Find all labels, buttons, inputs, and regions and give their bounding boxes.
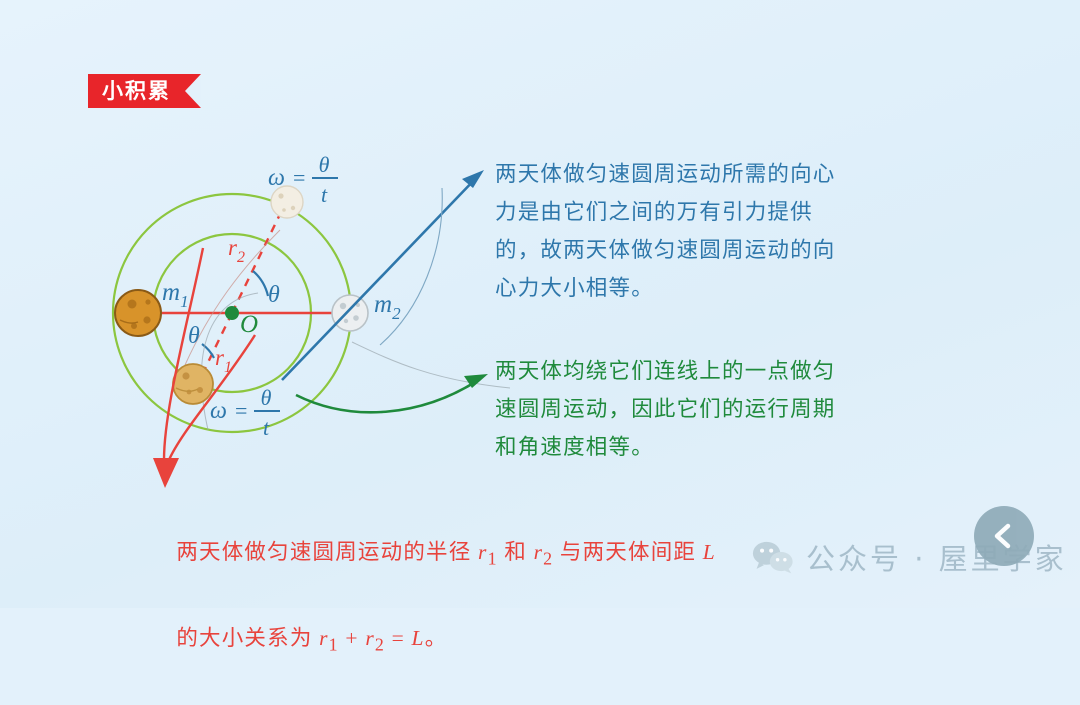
note3-period: 。 <box>425 626 448 650</box>
celestial-body-m1 <box>115 290 161 336</box>
label-theta-lower: θ <box>188 323 200 349</box>
note3-plus: + <box>339 626 365 650</box>
label-m2: m2 <box>374 291 401 323</box>
note-radius-relation: 两天体做匀速圆周运动的半径 r1 和 r2 与两天体间距 L 的大小关系为 r1… <box>150 492 870 705</box>
note3-eq-r1-sub: 1 <box>329 635 339 655</box>
celestial-body-m2 <box>332 295 368 331</box>
note3-L: L <box>703 540 716 564</box>
two-body-orbit-diagram: m1 m2 O r2 r1 θ θ ω = θ t <box>90 130 510 510</box>
svg-text:θ: θ <box>319 152 330 177</box>
note3-equals: = <box>385 626 411 650</box>
banner-notch <box>185 74 201 108</box>
note3-text-1: 两天体做匀速圆周运动的半径 <box>176 540 478 564</box>
celestial-body-lower <box>173 364 213 404</box>
svg-text:=: = <box>293 165 305 190</box>
chevron-left-icon <box>989 521 1019 551</box>
note3-r2: r <box>534 540 544 564</box>
note3-eq-L: L <box>412 626 425 650</box>
label-r2: r2 <box>228 235 245 266</box>
svg-text:ω: ω <box>268 165 285 191</box>
note3-r1: r <box>478 540 488 564</box>
slide-canvas: 小积累 <box>0 0 1080 608</box>
svg-text:t: t <box>321 182 328 207</box>
back-button[interactable] <box>974 506 1034 566</box>
note3-text-2: 与两天体间距 <box>553 540 702 564</box>
banner-label: 小积累 <box>102 79 171 103</box>
svg-text:ω: ω <box>210 398 227 424</box>
svg-text:t: t <box>263 415 270 440</box>
green-arrow <box>296 374 488 412</box>
label-O: O <box>240 311 258 338</box>
wechat-icon <box>752 540 794 574</box>
label-m1: m1 <box>162 279 189 311</box>
note3-eq-r1: r <box>319 626 329 650</box>
svg-text:θ: θ <box>261 385 272 410</box>
label-r1: r1 <box>215 345 232 376</box>
note3-eq-r2-sub: 2 <box>375 635 385 655</box>
note-centripetal-force: 两天体做匀速圆周运动所需的向心力是由它们之间的万有引力提供的，故两天体做匀速圆周… <box>495 155 855 307</box>
note-common-center: 两天体均绕它们连线上的一点做匀速圆周运动，因此它们的运行周期和角速度相等。 <box>495 352 845 466</box>
svg-text:=: = <box>235 398 247 423</box>
note3-text-3: 的大小关系为 <box>176 626 319 650</box>
leader-line-m2 <box>352 342 510 388</box>
angle-arc-upper <box>253 271 268 296</box>
section-banner: 小积累 <box>88 74 201 108</box>
note3-and: 和 <box>498 540 534 564</box>
note3-r1-sub: 1 <box>488 548 498 568</box>
center-point-dot <box>225 306 239 320</box>
blue-arrow <box>282 170 484 380</box>
label-theta-upper: θ <box>268 282 280 308</box>
note3-r2-sub: 2 <box>543 548 553 568</box>
note3-eq-r2: r <box>365 626 375 650</box>
